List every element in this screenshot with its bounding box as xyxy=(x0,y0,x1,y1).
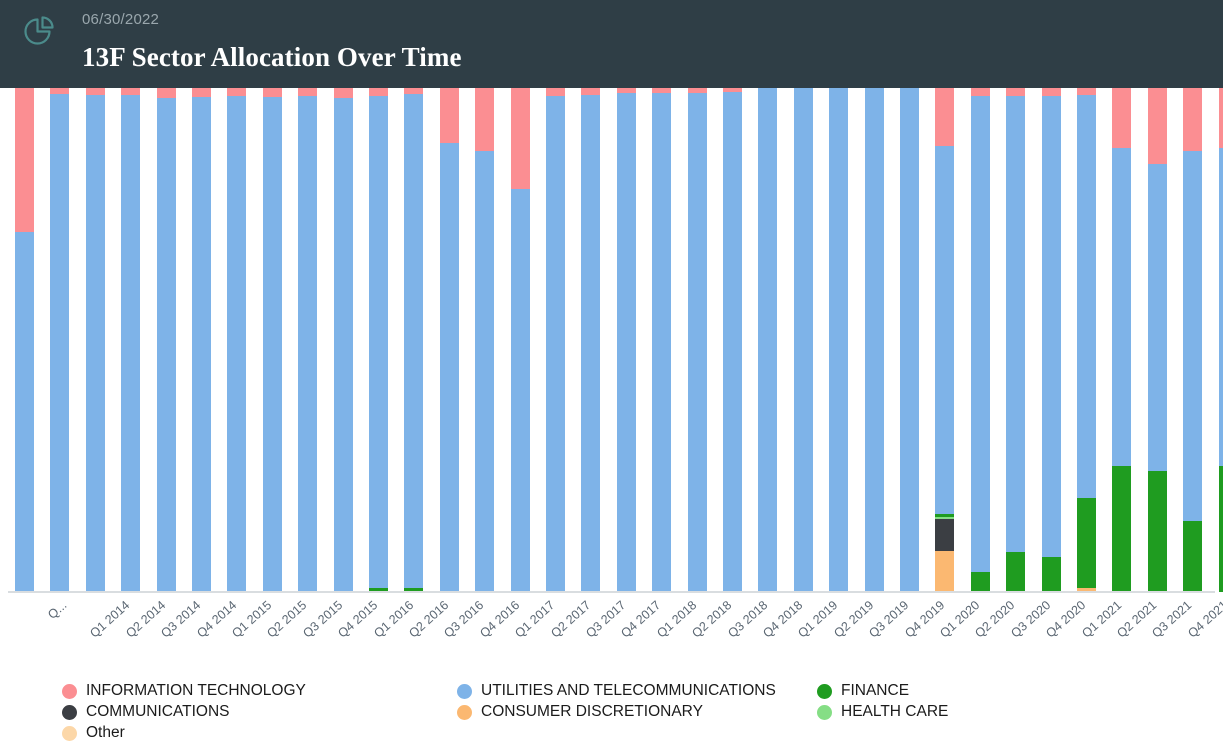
segment-utilities-and-telecommunications xyxy=(971,96,990,572)
segment-information-technology xyxy=(971,88,990,96)
legend-color-swatch-icon xyxy=(457,705,472,720)
bar-q3-2017[interactable] xyxy=(546,88,565,592)
segment-information-technology xyxy=(369,88,388,96)
segment-utilities-and-telecommunications xyxy=(86,95,105,592)
bar-q4-2018[interactable] xyxy=(723,88,742,592)
bar-q-[interactable] xyxy=(15,88,34,592)
segment-information-technology xyxy=(192,88,211,97)
segment-finance xyxy=(1006,552,1025,592)
segment-information-technology xyxy=(121,88,140,95)
segment-information-technology xyxy=(1148,88,1167,164)
bar-q3-2016[interactable] xyxy=(404,88,423,592)
x-axis-tick-label: Q... xyxy=(45,598,69,622)
bar-q2-2020[interactable] xyxy=(935,88,954,592)
segment-utilities-and-telecommunications xyxy=(935,146,954,514)
bar-q3-2015[interactable] xyxy=(263,88,282,592)
app-header: 06/30/2022 13F Sector Allocation Over Ti… xyxy=(0,0,1223,88)
legend-item-finance[interactable]: FINANCE xyxy=(817,681,909,701)
bar-q4-2017[interactable] xyxy=(581,88,600,592)
segment-utilities-and-telecommunications xyxy=(794,88,813,592)
legend-item-label: UTILITIES AND TELECOMMUNICATIONS xyxy=(481,682,776,700)
bar-q2-2015[interactable] xyxy=(227,88,246,592)
bar-q4-2014[interactable] xyxy=(157,88,176,592)
segment-utilities-and-telecommunications xyxy=(1112,148,1131,466)
segment-information-technology xyxy=(334,88,353,98)
legend-item-label: INFORMATION TECHNOLOGY xyxy=(86,682,306,700)
bar-q1-2018[interactable] xyxy=(617,88,636,592)
segment-finance xyxy=(1219,466,1223,592)
legend-item-health-care[interactable]: HEALTH CARE xyxy=(817,702,948,722)
segment-information-technology xyxy=(511,88,530,189)
segment-finance xyxy=(1077,498,1096,589)
bar-q3-2019[interactable] xyxy=(829,88,848,592)
segment-utilities-and-telecommunications xyxy=(723,92,742,592)
bar-q1-2021[interactable] xyxy=(1042,88,1061,592)
bar-q3-2021[interactable] xyxy=(1112,88,1131,592)
legend-color-swatch-icon xyxy=(457,684,472,699)
segment-utilities-and-telecommunications xyxy=(865,88,884,592)
bar-q4-2019[interactable] xyxy=(865,88,884,592)
segment-information-technology xyxy=(1042,88,1061,96)
segment-information-technology xyxy=(157,88,176,98)
segment-finance xyxy=(971,572,990,592)
stacked-bar-chart xyxy=(0,88,1223,598)
segment-utilities-and-telecommunications xyxy=(1006,96,1025,552)
segment-information-technology xyxy=(227,88,246,96)
bar-q2-2014[interactable] xyxy=(86,88,105,592)
bar-q2-2021[interactable] xyxy=(1077,88,1096,592)
segment-information-technology xyxy=(1219,88,1223,148)
segment-utilities-and-telecommunications xyxy=(617,93,636,592)
segment-utilities-and-telecommunications xyxy=(1183,151,1202,521)
segment-utilities-and-telecommunications xyxy=(1042,96,1061,557)
segment-communications xyxy=(935,519,954,551)
segment-utilities-and-telecommunications xyxy=(192,97,211,592)
legend-item-label: FINANCE xyxy=(841,682,909,700)
bar-q2-2019[interactable] xyxy=(794,88,813,592)
legend-item-label: HEALTH CARE xyxy=(841,703,948,721)
page-title: 13F Sector Allocation Over Time xyxy=(82,42,462,73)
segment-utilities-and-telecommunications xyxy=(440,143,459,592)
segment-information-technology xyxy=(263,88,282,97)
segment-utilities-and-telecommunications xyxy=(1077,95,1096,498)
segment-information-technology xyxy=(15,88,34,232)
segment-information-technology xyxy=(440,88,459,143)
segment-utilities-and-telecommunications xyxy=(511,189,530,592)
segment-information-technology xyxy=(1006,88,1025,96)
segment-utilities-and-telecommunications xyxy=(688,93,707,592)
bar-q1-2019[interactable] xyxy=(758,88,777,592)
segment-utilities-and-telecommunications xyxy=(263,97,282,592)
segment-information-technology xyxy=(475,88,494,151)
segment-information-technology xyxy=(1112,88,1131,148)
segment-utilities-and-telecommunications xyxy=(298,96,317,592)
bar-q3-2014[interactable] xyxy=(121,88,140,592)
bar-q4-2020[interactable] xyxy=(1006,88,1025,592)
legend-item-label: CONSUMER DISCRETIONARY xyxy=(481,703,703,721)
segment-utilities-and-telecommunications xyxy=(404,94,423,588)
segment-information-technology xyxy=(935,88,954,146)
legend-color-swatch-icon xyxy=(817,684,832,699)
segment-utilities-and-telecommunications xyxy=(581,95,600,592)
bar-q1-2022[interactable] xyxy=(1183,88,1202,592)
segment-utilities-and-telecommunications xyxy=(369,96,388,588)
segment-information-technology xyxy=(546,88,565,96)
bar-q4-2016[interactable] xyxy=(440,88,459,592)
legend-item-label: COMMUNICATIONS xyxy=(86,703,230,721)
bar-q2-2018[interactable] xyxy=(652,88,671,592)
segment-finance xyxy=(1148,471,1167,592)
segment-consumer-discretionary xyxy=(935,551,954,592)
segment-utilities-and-telecommunications xyxy=(50,94,69,592)
legend-color-swatch-icon xyxy=(62,705,77,720)
bar-q4-2021[interactable] xyxy=(1148,88,1167,592)
segment-utilities-and-telecommunications xyxy=(758,88,777,592)
segment-utilities-and-telecommunications xyxy=(157,98,176,592)
legend-color-swatch-icon xyxy=(817,705,832,720)
bar-q2-2022[interactable] xyxy=(1219,88,1223,592)
segment-utilities-and-telecommunications xyxy=(546,96,565,592)
segment-utilities-and-telecommunications xyxy=(829,88,848,592)
legend-item-other[interactable]: Other xyxy=(62,723,125,743)
legend-color-swatch-icon xyxy=(62,726,77,741)
bar-q2-2016[interactable] xyxy=(369,88,388,592)
legend-item-consumer-discretionary[interactable]: CONSUMER DISCRETIONARY xyxy=(457,702,703,722)
segment-information-technology xyxy=(1183,88,1202,151)
chart-plot-area xyxy=(0,88,1223,592)
bar-q3-2020[interactable] xyxy=(971,88,990,592)
segment-utilities-and-telecommunications xyxy=(227,96,246,592)
segment-utilities-and-telecommunications xyxy=(475,151,494,592)
bar-q3-2018[interactable] xyxy=(688,88,707,592)
segment-utilities-and-telecommunications xyxy=(334,98,353,592)
bar-q2-2017[interactable] xyxy=(511,88,530,592)
segment-utilities-and-telecommunications xyxy=(15,232,34,592)
legend-item-communications[interactable]: COMMUNICATIONS xyxy=(62,702,230,722)
pie-chart-icon xyxy=(17,10,61,54)
chart-legend: INFORMATION TECHNOLOGYUTILITIES AND TELE… xyxy=(62,681,1162,743)
segment-utilities-and-telecommunications xyxy=(900,88,919,592)
segment-information-technology xyxy=(298,88,317,96)
segment-finance xyxy=(1112,466,1131,592)
legend-item-utilities-and-telecommunications[interactable]: UTILITIES AND TELECOMMUNICATIONS xyxy=(457,681,776,701)
segment-finance xyxy=(1042,557,1061,592)
bar-q4-2015[interactable] xyxy=(298,88,317,592)
bar-q1-2015[interactable] xyxy=(192,88,211,592)
bar-q1-2017[interactable] xyxy=(475,88,494,592)
bar-q1-2014[interactable] xyxy=(50,88,69,592)
legend-color-swatch-icon xyxy=(62,684,77,699)
segment-utilities-and-telecommunications xyxy=(1148,164,1167,471)
segment-utilities-and-telecommunications xyxy=(121,95,140,592)
chart-baseline xyxy=(8,591,1215,593)
report-date: 06/30/2022 xyxy=(82,11,159,28)
chart-x-axis: Q...Q1 2014Q2 2014Q3 2014Q4 2014Q1 2015Q… xyxy=(0,598,1223,670)
legend-item-label: Other xyxy=(86,724,125,742)
segment-finance xyxy=(1183,521,1202,592)
segment-utilities-and-telecommunications xyxy=(1219,148,1223,466)
bar-q1-2020[interactable] xyxy=(900,88,919,592)
bar-q1-2016[interactable] xyxy=(334,88,353,592)
legend-item-information-technology[interactable]: INFORMATION TECHNOLOGY xyxy=(62,681,306,701)
segment-utilities-and-telecommunications xyxy=(652,93,671,592)
